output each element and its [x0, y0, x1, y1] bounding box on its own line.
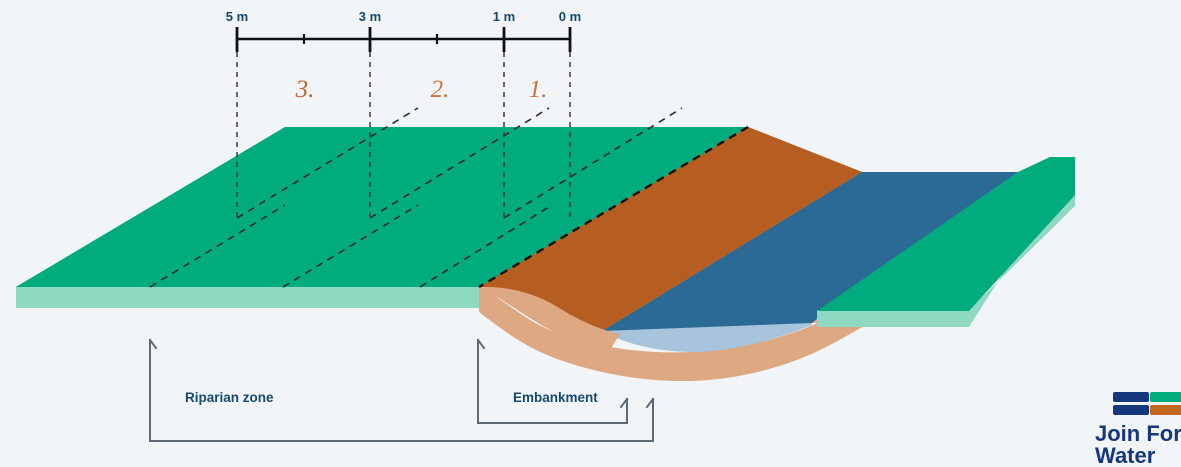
join-for-water-logo[interactable]: Join For Water	[0, 0, 1181, 467]
logo-bar-top-green	[1150, 392, 1181, 402]
logo-bar-bottom-orange	[1150, 405, 1181, 415]
logo-bars	[1113, 392, 1181, 415]
logo-text-line2: Water	[1095, 443, 1156, 467]
logo-bar-top-blue	[1113, 392, 1149, 402]
logo-bar-bottom-blue	[1113, 405, 1149, 415]
diagram-canvas: 5 m 3 m 1 m 0 m 3. 2. 1. Riparian zone E…	[0, 0, 1181, 467]
